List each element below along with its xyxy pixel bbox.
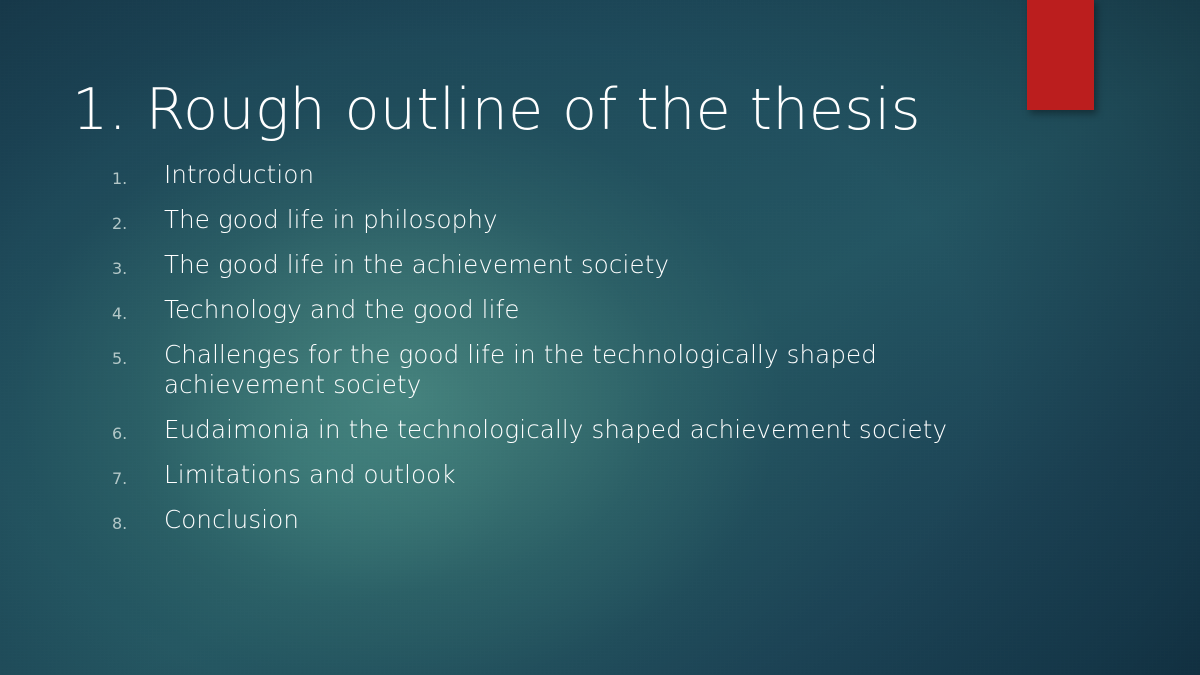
list-item: 5. Challenges for the good life in the t… <box>112 340 1112 400</box>
list-item-label: Eudaimonia in the technologically shaped… <box>164 415 1014 445</box>
list-item: 2. The good life in philosophy <box>112 205 1112 235</box>
red-accent-rectangle <box>1027 0 1094 110</box>
list-item-label: Conclusion <box>164 505 954 535</box>
list-item-number: 7. <box>112 460 164 487</box>
list-item: 8. Conclusion <box>112 505 1112 535</box>
list-item-label: The good life in philosophy <box>164 205 954 235</box>
list-item-number: 4. <box>112 295 164 322</box>
list-item-label: Limitations and outlook <box>164 460 954 490</box>
list-item-number: 6. <box>112 415 164 442</box>
list-item: 6. Eudaimonia in the technologically sha… <box>112 415 1112 445</box>
list-item: 7. Limitations and outlook <box>112 460 1112 490</box>
list-item-label: Challenges for the good life in the tech… <box>164 340 954 400</box>
list-item-number: 2. <box>112 205 164 232</box>
list-item-label: Introduction <box>164 160 954 190</box>
list-item-number: 5. <box>112 340 164 367</box>
list-item-number: 1. <box>112 160 164 187</box>
presentation-slide: 1. Rough outline of the thesis 1. Introd… <box>0 0 1200 675</box>
outline-list: 1. Introduction 2. The good life in phil… <box>72 160 1112 550</box>
list-item: 3. The good life in the achievement soci… <box>112 250 1112 280</box>
list-item-label: Technology and the good life <box>164 295 954 325</box>
list-item: 1. Introduction <box>112 160 1112 190</box>
list-item-label: The good life in the achievement society <box>164 250 954 280</box>
list-item: 4. Technology and the good life <box>112 295 1112 325</box>
list-item-number: 3. <box>112 250 164 277</box>
slide-title: 1. Rough outline of the thesis <box>72 79 972 143</box>
list-item-number: 8. <box>112 505 164 532</box>
